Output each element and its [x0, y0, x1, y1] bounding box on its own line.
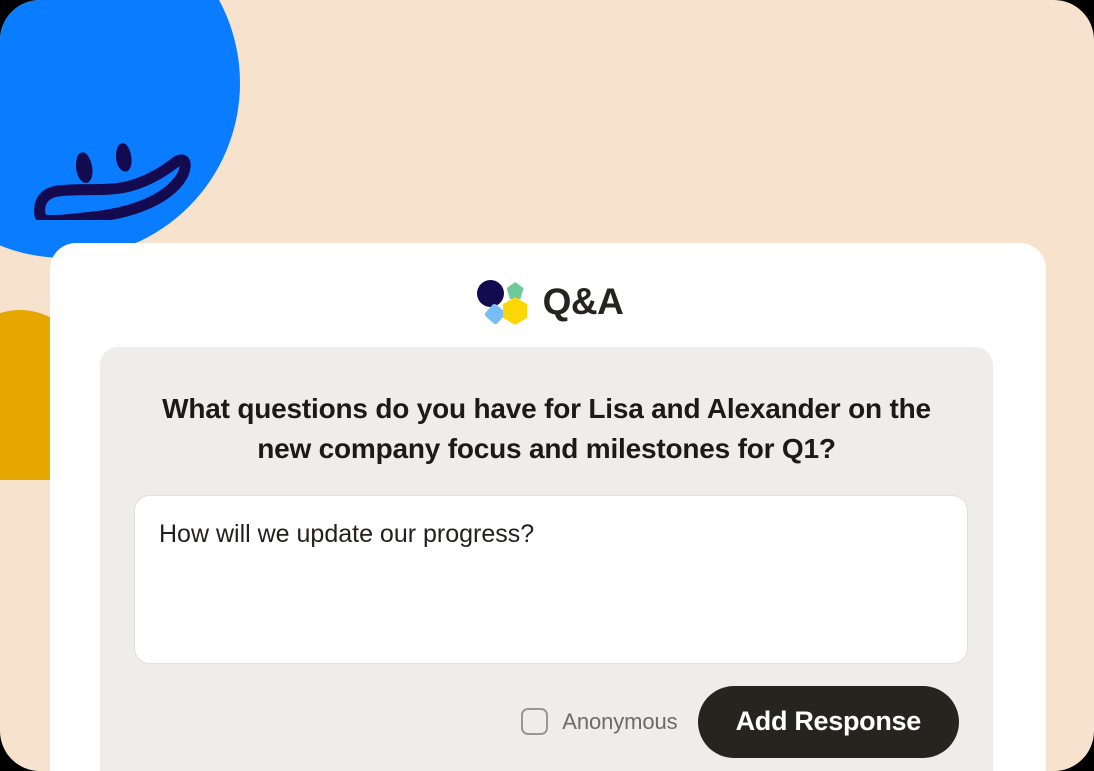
response-input[interactable] [134, 495, 968, 664]
question-text: What questions do you have for Lisa and … [134, 389, 959, 469]
page-title: Q&A [543, 283, 624, 320]
actions-row: Anonymous Add Response [134, 686, 959, 758]
anonymous-checkbox[interactable] [521, 708, 548, 735]
logo-hexagon-icon [502, 297, 529, 325]
brand-header: Q&A [50, 276, 1046, 326]
app-page: Q&A What questions do you have for Lisa … [0, 0, 1094, 771]
add-response-button[interactable]: Add Response [698, 686, 959, 758]
logo-circle-icon [477, 280, 504, 307]
qanda-card: Q&A What questions do you have for Lisa … [50, 243, 1046, 771]
logo-pentagon-icon [507, 282, 524, 299]
smiley-face-doodle [0, 60, 250, 220]
question-panel: What questions do you have for Lisa and … [100, 347, 993, 771]
anonymous-label: Anonymous [562, 709, 677, 735]
blue-circle-shape [0, 0, 240, 258]
anonymous-toggle[interactable]: Anonymous [521, 708, 677, 735]
qanda-logo-icon [473, 276, 529, 326]
